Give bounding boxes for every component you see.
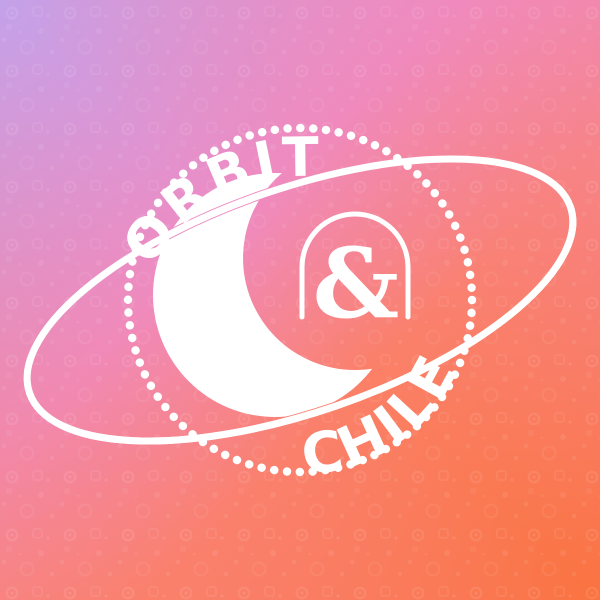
logo-mark-group: & ORBIT CHILE	[0, 0, 600, 600]
arch-monogram-group: &	[302, 214, 408, 340]
ampersand-glyph: &	[313, 227, 400, 340]
logo-canvas: & ORBIT CHILE	[0, 0, 600, 600]
